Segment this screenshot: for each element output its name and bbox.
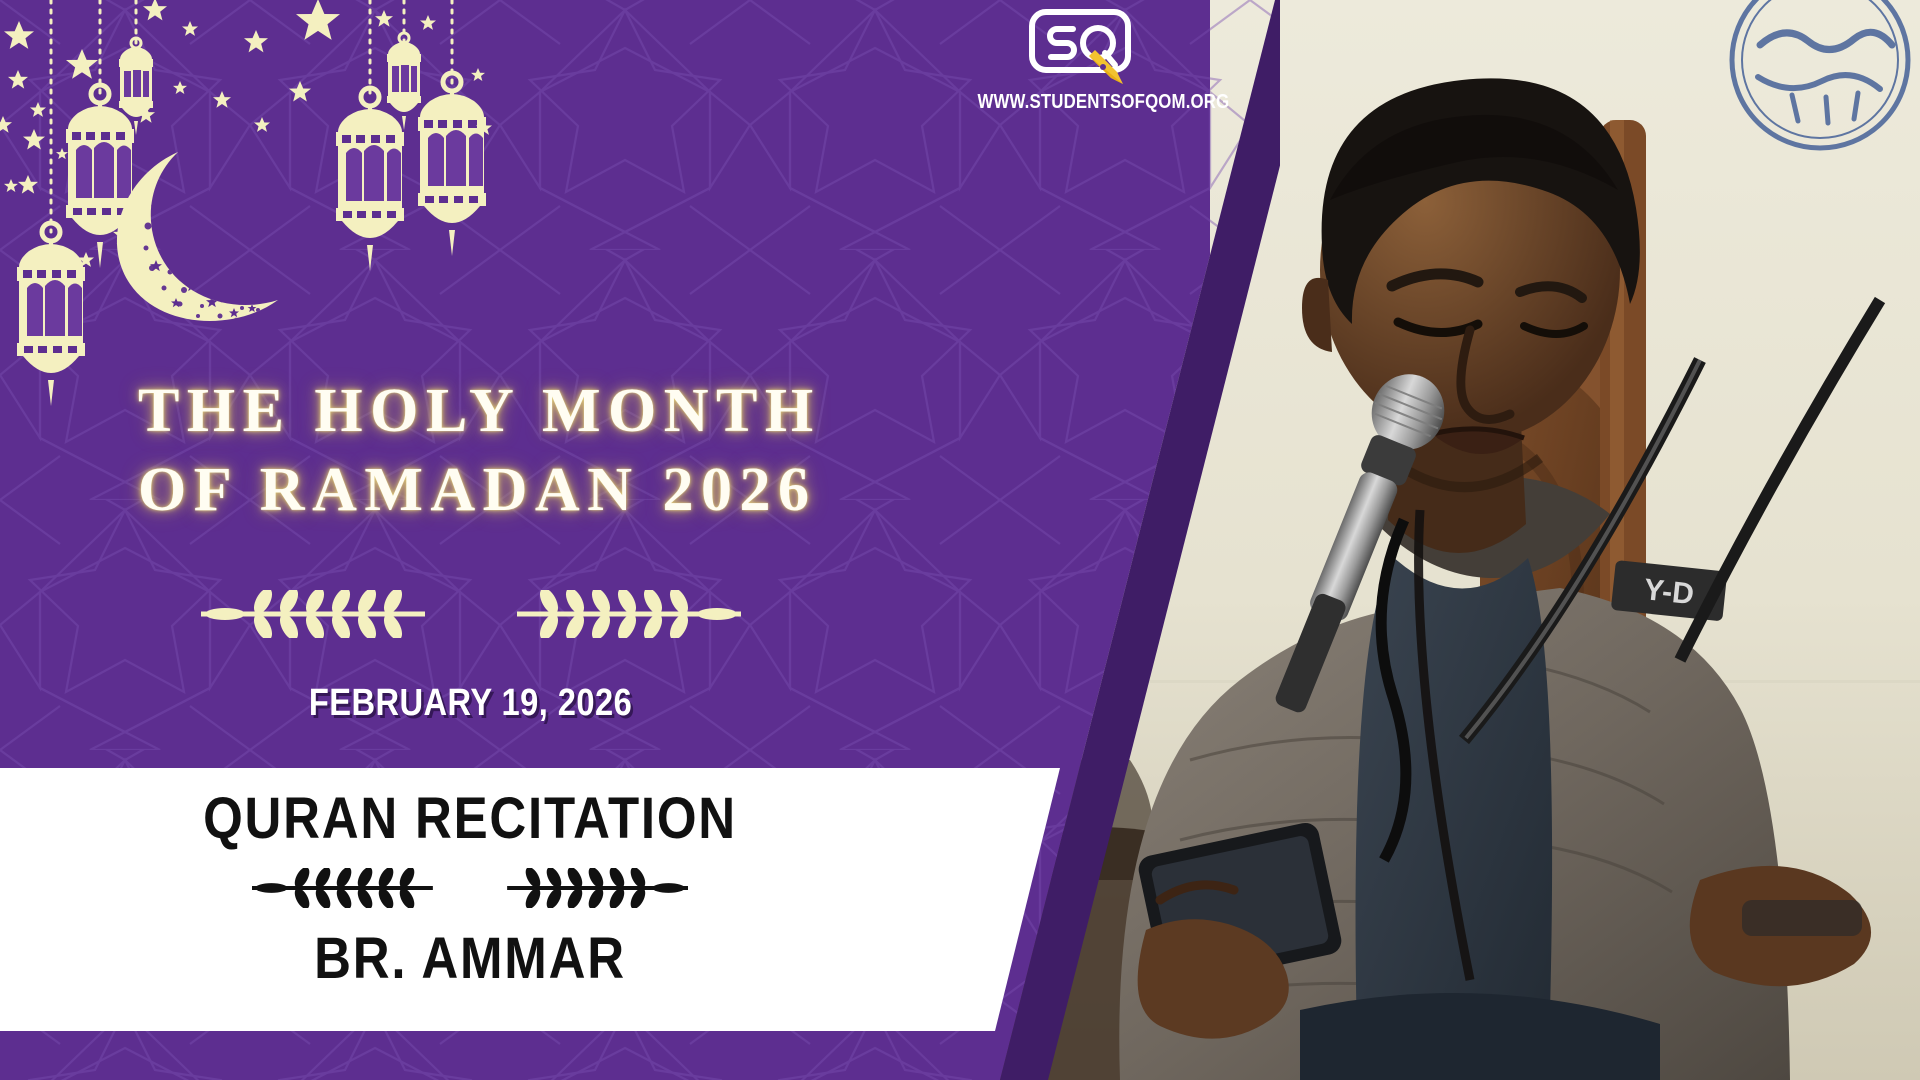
divider-ornament-bottom (120, 868, 820, 908)
sq-speech-bubble-logo-icon (1027, 8, 1133, 86)
svg-text:Y-D: Y-D (1642, 573, 1695, 611)
brand-logo[interactable]: WWW.STUDENTSOFQOM.ORG (955, 8, 1205, 114)
speaker-name: BR. AMMAR (162, 925, 778, 992)
page-title: THE HOLY MONTH OF RAMADAN 2026 (138, 372, 938, 529)
event-date: FEBRUARY 19, 2026 (185, 682, 757, 725)
ramadan-announcement-poster: Y-D (0, 0, 1920, 1080)
website-url[interactable]: WWW.STUDENTSOFQOM.ORG (978, 90, 1183, 114)
event-title: QURAN RECITATION (162, 785, 778, 852)
divider-ornament-top (138, 590, 803, 638)
